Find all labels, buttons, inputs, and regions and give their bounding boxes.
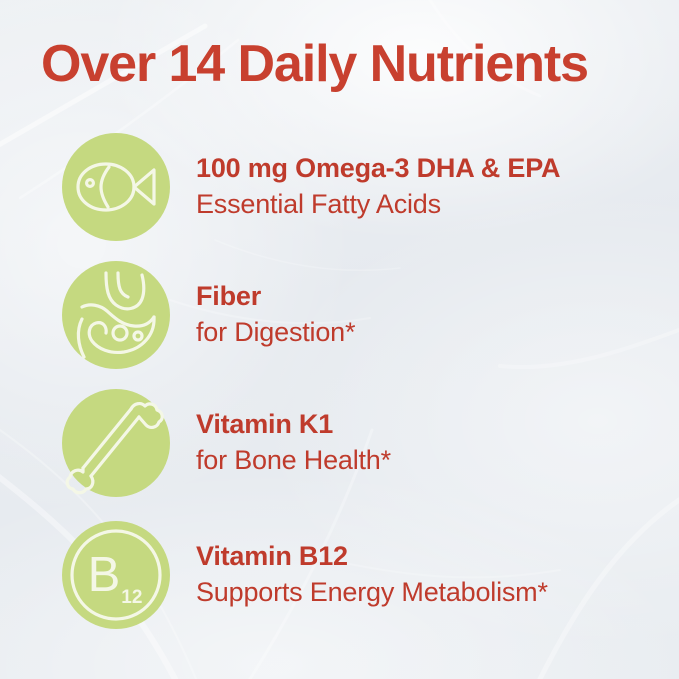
b12-subscript: 12 xyxy=(121,588,142,607)
nutrient-title: Vitamin K1 xyxy=(196,407,391,443)
fish-icon xyxy=(62,133,170,241)
nutrient-badge: B 12 xyxy=(62,521,170,629)
nutrient-copy: Fiber for Digestion* xyxy=(196,279,355,350)
nutrient-row-omega3: 100 mg Omega-3 DHA & EPA Essential Fatty… xyxy=(0,131,679,243)
nutrient-subtitle: for Bone Health* xyxy=(196,443,391,479)
vitamin-b12-glyph: B 12 xyxy=(62,521,170,629)
nutrient-title: Vitamin B12 xyxy=(196,539,548,575)
nutrient-copy: Vitamin B12 Supports Energy Metabolism* xyxy=(196,539,548,610)
page-title: Over 14 Daily Nutrients xyxy=(41,36,651,92)
nutrient-subtitle: for Digestion* xyxy=(196,315,355,351)
nutrient-badge xyxy=(62,133,170,241)
nutrient-title: 100 mg Omega-3 DHA & EPA xyxy=(196,151,560,187)
nutrient-subtitle: Essential Fatty Acids xyxy=(196,187,560,223)
nutrient-badge xyxy=(62,261,170,369)
nutrient-badge xyxy=(62,389,170,497)
nutrient-copy: 100 mg Omega-3 DHA & EPA Essential Fatty… xyxy=(196,151,560,222)
stomach-icon xyxy=(62,261,170,369)
b12-letter: B xyxy=(88,551,121,600)
nutrient-copy: Vitamin K1 for Bone Health* xyxy=(196,407,391,478)
nutrition-infographic: Over 14 Daily Nutrients 100 mg Omega-3 D… xyxy=(0,0,679,679)
nutrient-subtitle: Supports Energy Metabolism* xyxy=(196,575,548,611)
bone-icon xyxy=(62,389,170,497)
nutrient-title: Fiber xyxy=(196,279,355,315)
nutrient-row-fiber: Fiber for Digestion* xyxy=(0,259,679,371)
nutrient-row-vitamin-b12: B 12 Vitamin B12 Supports Energy Metabol… xyxy=(0,519,679,631)
nutrient-row-vitamin-k1: Vitamin K1 for Bone Health* xyxy=(0,387,679,499)
